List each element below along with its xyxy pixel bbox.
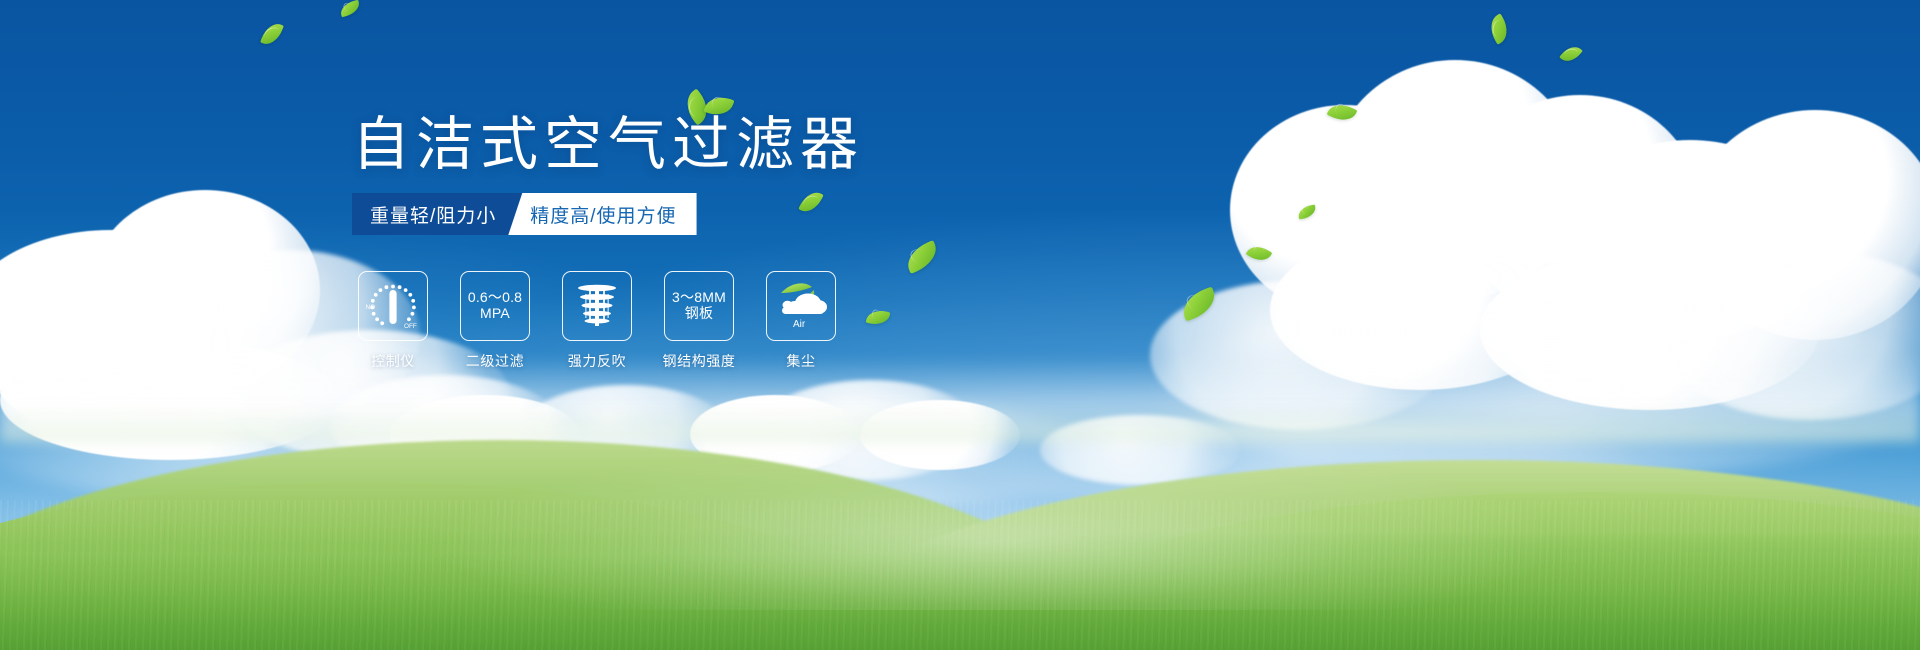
page-title: 自洁式空气过滤器: [352, 116, 864, 174]
tagline-ribbon-secondary: 精度高/使用方便: [508, 193, 696, 235]
steel-plate-text-icon: 3～8MM 钢板: [672, 290, 726, 321]
air-label: Air: [793, 319, 806, 330]
pulse-blowback-icon: [568, 277, 626, 335]
gauge-control-icon: NO OFF: [363, 276, 423, 336]
feature-icon-box: [562, 271, 632, 341]
feature-list: NO OFF 控制仪 0.6～0.8 MPA 二级过滤: [358, 271, 836, 371]
feature-item-dust[interactable]: Air 集尘: [766, 271, 836, 371]
pressure-unit: MPA: [468, 306, 522, 322]
steel-thickness: 3～8MM: [672, 290, 726, 306]
feature-label: 集尘: [786, 351, 815, 371]
feature-icon-box: 3～8MM 钢板: [664, 271, 734, 341]
leaf-accent: [781, 283, 812, 293]
tagline-ribbons: 重量轻/阻力小 精度高/使用方便: [352, 193, 697, 235]
feature-label: 强力反吹: [568, 351, 626, 371]
feature-icon-box: Air: [766, 271, 836, 341]
steel-material: 钢板: [672, 306, 726, 322]
tagline-ribbon-primary: 重量轻/阻力小: [352, 193, 522, 235]
feature-label: 钢结构强度: [663, 351, 736, 371]
feature-item-blowback[interactable]: 强力反吹: [562, 271, 632, 371]
feature-item-filtration[interactable]: 0.6～0.8 MPA 二级过滤: [460, 271, 530, 371]
feature-icon-box: NO OFF: [358, 271, 428, 341]
banner-content: 自洁式空气过滤器 重量轻/阻力小 精度高/使用方便: [0, 0, 1920, 650]
hero-banner: 自洁式空气过滤器 重量轻/阻力小 精度高/使用方便: [0, 0, 1920, 650]
feature-item-control[interactable]: NO OFF 控制仪: [358, 271, 428, 371]
pressure-text-icon: 0.6～0.8 MPA: [468, 290, 522, 321]
air-cloud-icon: Air: [771, 277, 831, 335]
pressure-range: 0.6～0.8: [468, 290, 522, 306]
feature-label: 二级过滤: [466, 351, 524, 371]
gauge-label-off: OFF: [404, 323, 417, 330]
feature-item-steel[interactable]: 3～8MM 钢板 钢结构强度: [664, 271, 734, 371]
feature-icon-box: 0.6～0.8 MPA: [460, 271, 530, 341]
feature-label: 控制仪: [371, 351, 415, 371]
gauge-label-no: NO: [366, 304, 376, 311]
